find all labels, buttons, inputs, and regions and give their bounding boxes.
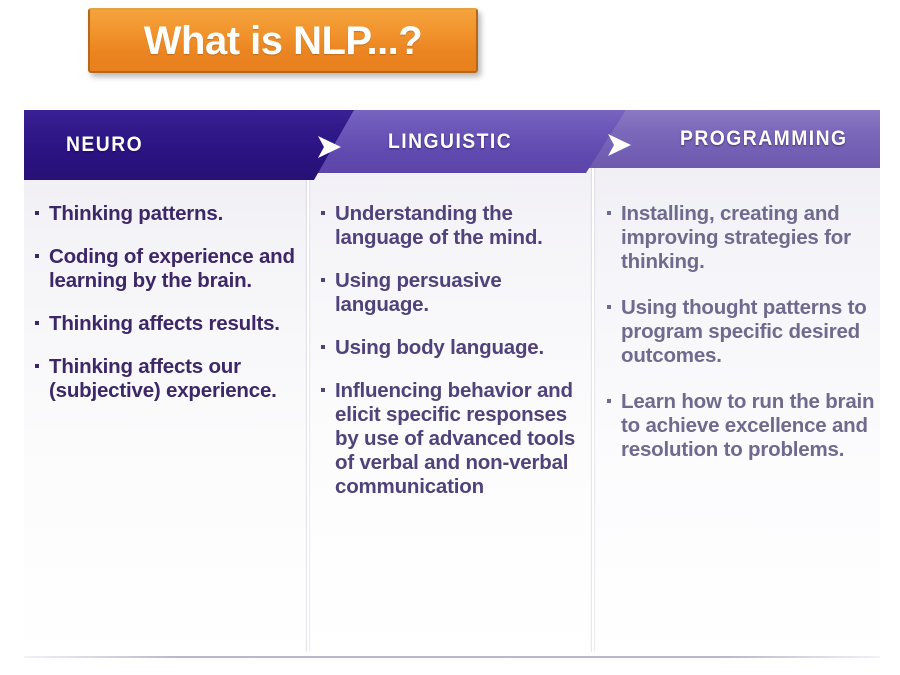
- list-item: Learn how to run the brain to achieve ex…: [606, 390, 884, 462]
- bullet-list-neuro: Thinking patterns. Coding of experience …: [34, 202, 300, 403]
- list-item: Using thought patterns to program specif…: [606, 296, 884, 368]
- nlp-chevron-diagram: PROGRAMMING LINGUISTIC NEURO Thinking pa…: [24, 110, 880, 658]
- bullet-column-linguistic: Understanding the language of the mind. …: [320, 202, 592, 518]
- bullet-list-linguistic: Understanding the language of the mind. …: [320, 202, 592, 499]
- bullet-column-neuro: Thinking patterns. Coding of experience …: [34, 202, 306, 422]
- list-item: Using body language.: [320, 336, 592, 360]
- column-header-linguistic: LINGUISTIC: [388, 130, 512, 154]
- list-item: Thinking affects our (subjective) experi…: [34, 355, 300, 403]
- column-header-neuro: NEURO: [66, 133, 143, 157]
- list-item: Understanding the language of the mind.: [320, 202, 592, 250]
- bullet-column-programming: Installing, creating and improving strat…: [606, 202, 884, 484]
- list-item: Coding of experience and learning by the…: [34, 245, 300, 293]
- list-item: Thinking patterns.: [34, 202, 300, 226]
- chevron-right-icon: [317, 136, 343, 158]
- chevron-banner-neuro: NEURO: [24, 110, 354, 180]
- slide-title-plaque: What is NLP...?: [88, 8, 478, 73]
- chevron-right-icon: [607, 134, 633, 156]
- list-item: Influencing behavior and elicit specific…: [320, 379, 592, 499]
- column-divider-2: [592, 168, 594, 652]
- list-item: Installing, creating and improving strat…: [606, 202, 884, 274]
- page-title: What is NLP...?: [144, 21, 422, 61]
- diagram-bottom-rule: [24, 656, 880, 658]
- bullet-list-programming: Installing, creating and improving strat…: [606, 202, 884, 462]
- column-header-programming: PROGRAMMING: [680, 127, 848, 151]
- column-divider-1: [307, 168, 309, 652]
- list-item: Using persuasive language.: [320, 269, 592, 317]
- list-item: Thinking affects results.: [34, 312, 300, 336]
